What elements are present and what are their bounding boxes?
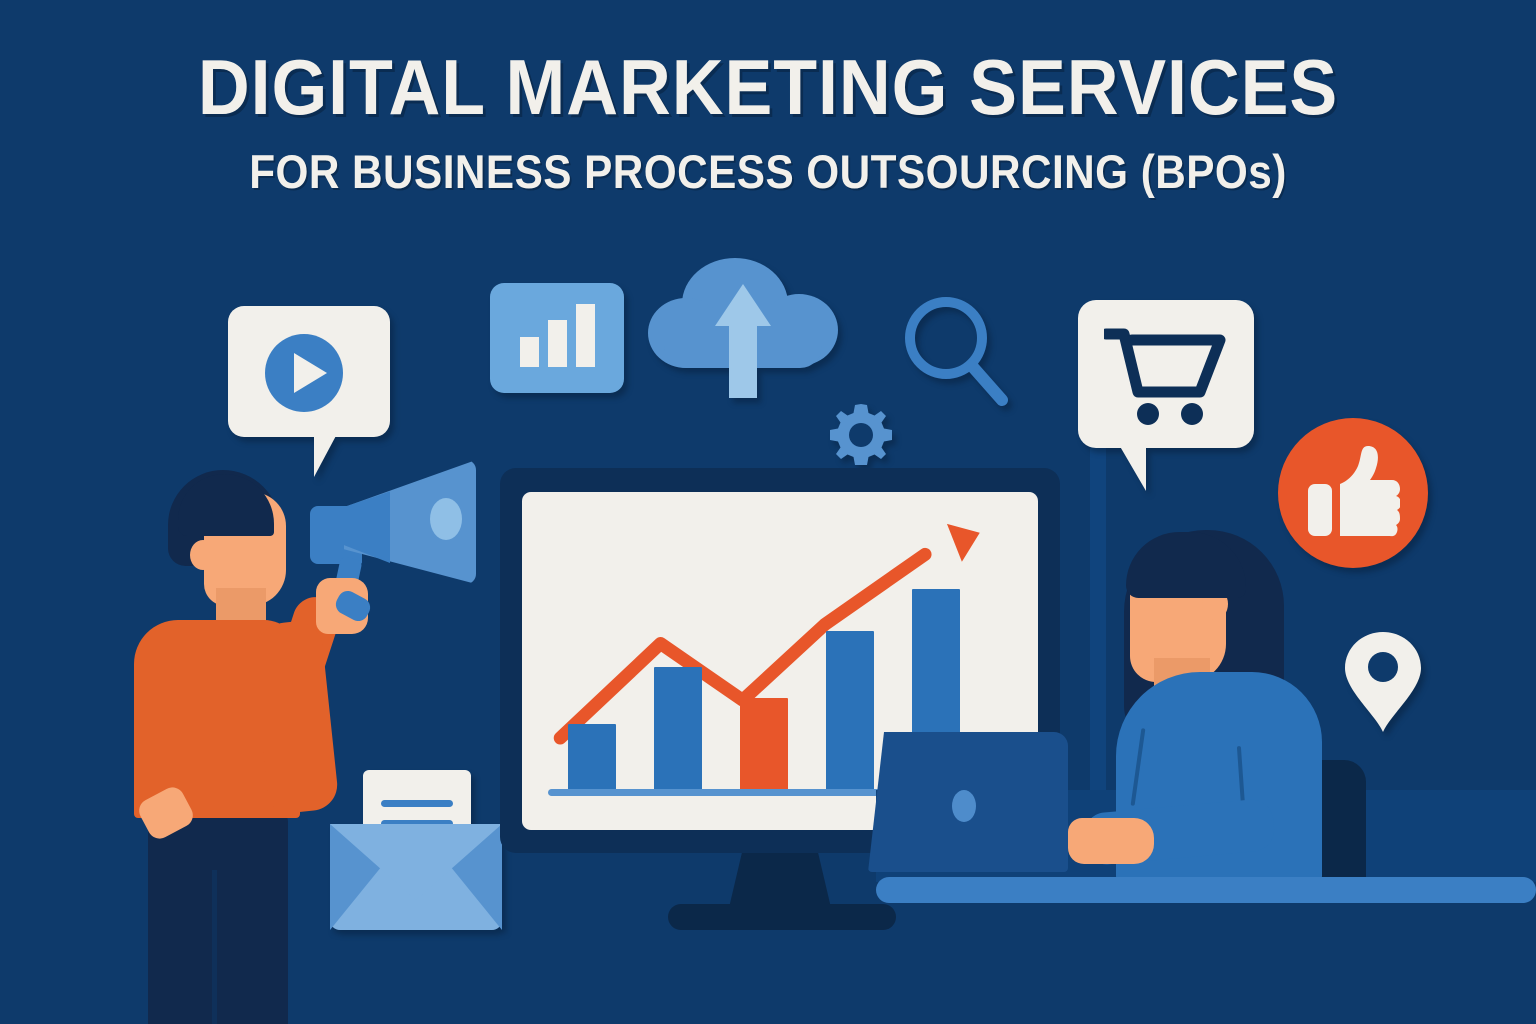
chart-bar-3 bbox=[740, 698, 788, 792]
megaphone-highlight bbox=[430, 498, 462, 540]
icon-bar-2 bbox=[548, 320, 567, 367]
upload-arrow-stem bbox=[729, 322, 757, 398]
laptop bbox=[868, 732, 1068, 884]
icon-bar-3 bbox=[576, 304, 595, 367]
search-icon bbox=[900, 292, 1012, 412]
woman-at-laptop-figure bbox=[1080, 530, 1370, 910]
thumbs-up-glyph bbox=[1308, 444, 1400, 540]
title-block: DIGITAL MARKETING SERVICES FOR BUSINESS … bbox=[0, 48, 1536, 195]
gear-svg bbox=[822, 396, 900, 474]
icon-bar-1 bbox=[520, 337, 539, 367]
chart-bar-1 bbox=[568, 724, 616, 792]
monitor-base bbox=[668, 904, 896, 930]
bar-chart-icon bbox=[490, 283, 624, 393]
monitor-neck bbox=[728, 850, 832, 912]
chart-bar-4 bbox=[826, 631, 874, 792]
chart-bar-2 bbox=[654, 667, 702, 792]
page-subtitle: FOR BUSINESS PROCESS OUTSOURCING (BPOs) bbox=[77, 148, 1459, 195]
cart-svg bbox=[1104, 326, 1230, 428]
play-triangle-icon bbox=[294, 353, 327, 393]
laptop-logo bbox=[952, 790, 976, 822]
gear-icon bbox=[822, 396, 900, 474]
poster-canvas: DIGITAL MARKETING SERVICES FOR BUSINESS … bbox=[0, 0, 1536, 1024]
man-ear bbox=[190, 540, 216, 570]
man-legs bbox=[148, 808, 288, 1024]
man-leg-split bbox=[212, 870, 217, 1024]
megaphone-icon bbox=[306, 458, 486, 633]
desk-surface bbox=[876, 877, 1536, 903]
bubble-tail bbox=[1118, 443, 1146, 491]
woman-hand bbox=[1068, 818, 1154, 864]
video-play-bubble-icon bbox=[228, 306, 390, 478]
magnifier-svg bbox=[900, 292, 1012, 412]
cloud-upload-icon bbox=[648, 258, 838, 398]
shopping-cart-bubble-icon bbox=[1078, 300, 1254, 492]
trend-arrowhead bbox=[947, 524, 980, 562]
page-title: DIGITAL MARKETING SERVICES bbox=[61, 48, 1474, 126]
upload-arrow-head bbox=[715, 284, 771, 326]
